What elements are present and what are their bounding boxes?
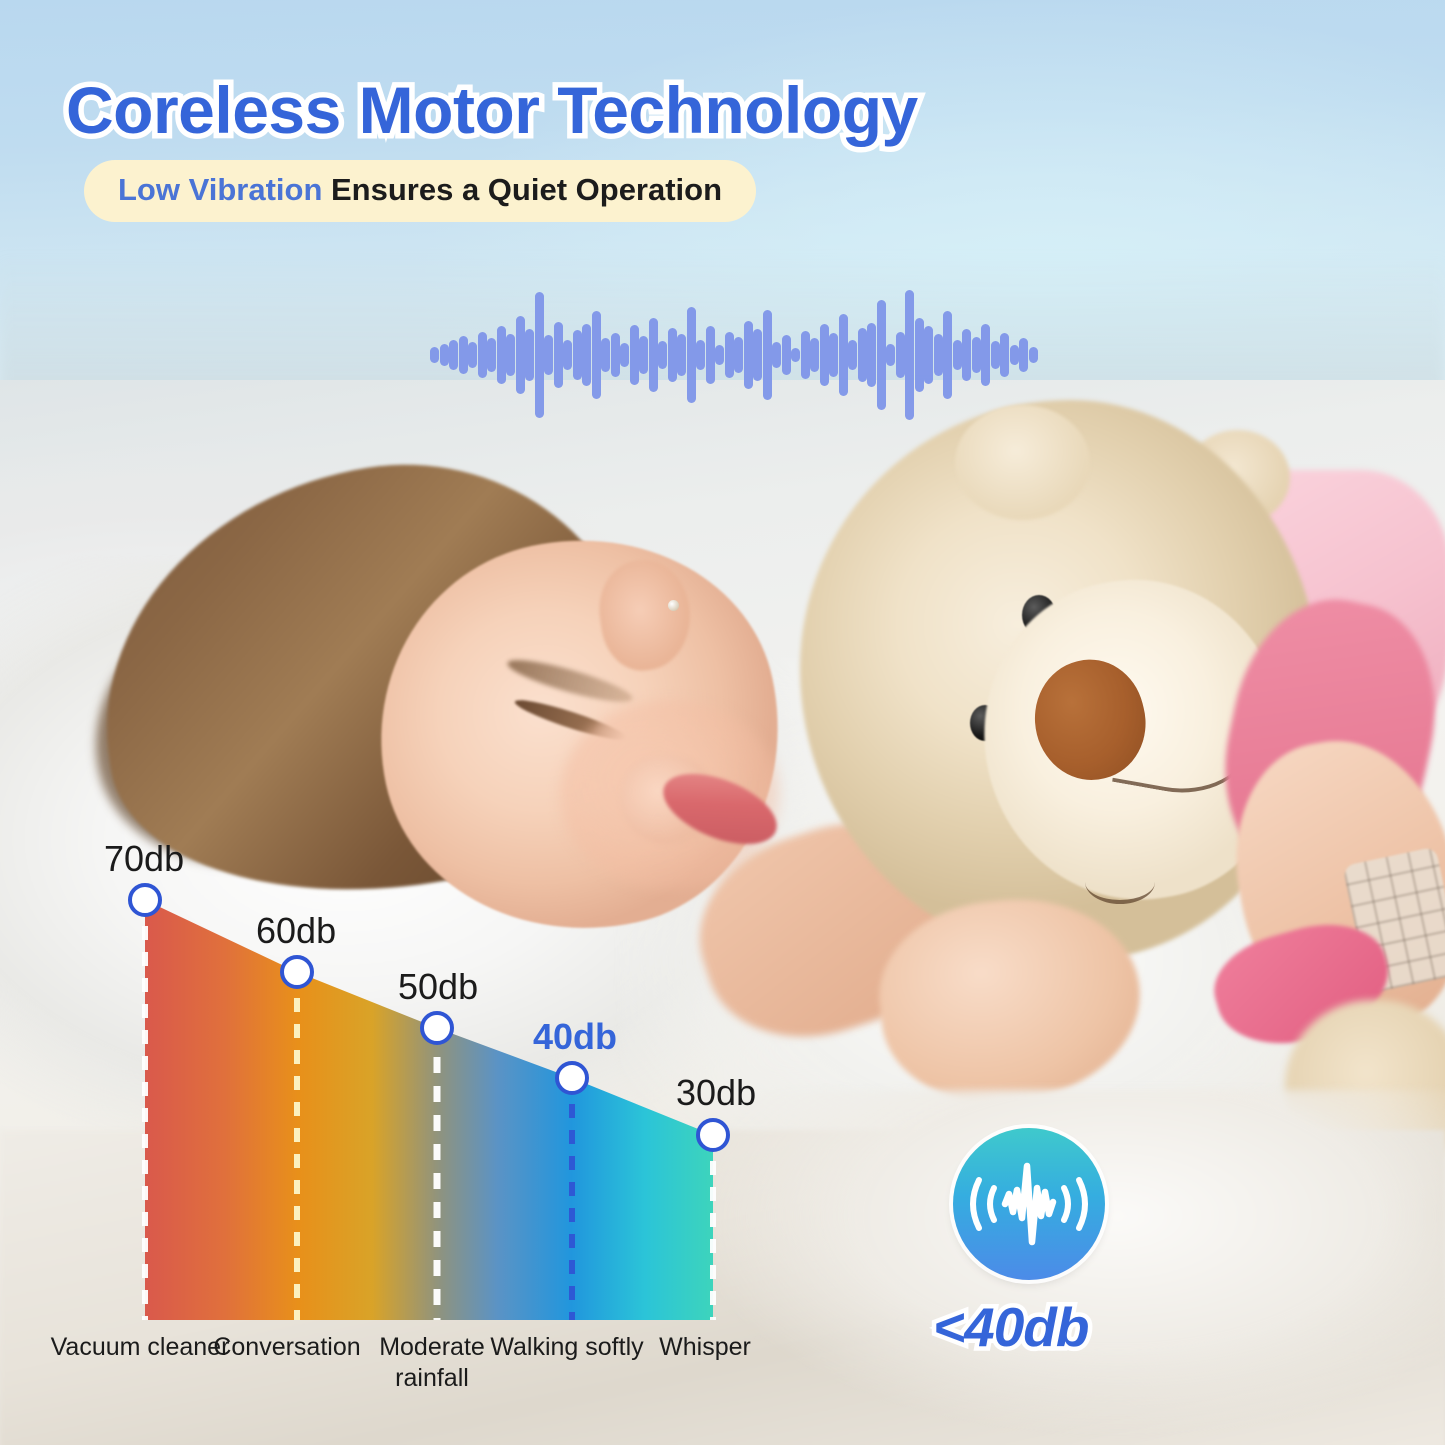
wave-bar — [459, 336, 468, 374]
chart-label-30db: 30db — [676, 1072, 756, 1114]
wave-bar — [544, 335, 553, 375]
chart-area — [145, 900, 713, 1320]
badge-label: <40db — [933, 1295, 1089, 1359]
chart-point-40db[interactable] — [557, 1063, 587, 1093]
wave-bar — [430, 347, 439, 363]
wave-bar — [915, 318, 924, 392]
wave-bar — [991, 341, 1000, 369]
wave-bar — [478, 332, 487, 378]
chart-point-50db[interactable] — [422, 1013, 452, 1043]
wave-bar — [677, 334, 686, 376]
chart-label-70db: 70db — [104, 838, 184, 880]
wave-bar — [791, 348, 800, 362]
wave-bar — [877, 300, 886, 410]
chart-point-70db[interactable] — [130, 885, 160, 915]
wave-bar — [516, 316, 525, 394]
wave-bar — [449, 340, 458, 370]
wave-bar — [905, 290, 914, 420]
wave-bar — [962, 329, 971, 381]
wave-bar — [706, 326, 715, 384]
wave-bar — [772, 342, 781, 368]
promo-image: Coreless Motor Technology Low Vibration … — [0, 0, 1445, 1445]
wave-bar — [1000, 333, 1009, 377]
wave-bar — [763, 310, 772, 400]
wave-bar — [801, 331, 810, 379]
page-title: Coreless Motor Technology — [66, 72, 918, 148]
wave-bar — [639, 336, 648, 374]
wave-bar — [1010, 345, 1019, 365]
wave-bar — [734, 337, 743, 373]
subtitle-pill: Low Vibration Ensures a Quiet Operation — [84, 160, 756, 222]
subtitle-highlight: Low Vibration — [118, 172, 322, 207]
wave-bar — [1019, 338, 1028, 372]
wave-bar — [981, 324, 990, 386]
wave-bar — [658, 341, 667, 369]
wave-bar — [611, 333, 620, 377]
wave-bar — [601, 338, 610, 372]
decibel-chart: 70db 60db 50db 40db 30db Vacuum cleaner … — [0, 860, 820, 1445]
wave-bar — [668, 328, 677, 382]
wave-bar — [554, 322, 563, 388]
wave-bar — [829, 333, 838, 377]
wave-bar — [535, 292, 544, 418]
wave-bar — [649, 318, 658, 392]
wave-bar — [810, 338, 819, 372]
wave-bar — [744, 321, 753, 389]
wave-bar — [924, 326, 933, 384]
chart-label-40db: 40db — [533, 1016, 617, 1058]
wave-bar — [820, 324, 829, 386]
wave-bar — [630, 325, 639, 385]
wave-bar — [848, 340, 857, 370]
chart-category-whisper: Whisper — [615, 1332, 795, 1363]
wave-bar — [972, 337, 981, 373]
wave-bar — [943, 311, 952, 399]
wave-bar — [867, 323, 876, 387]
wave-bar — [696, 340, 705, 370]
chart-label-60db: 60db — [256, 910, 336, 952]
earring — [668, 600, 679, 611]
wave-bar — [886, 344, 895, 366]
chart-point-60db[interactable] — [282, 957, 312, 987]
chart-point-30db[interactable] — [698, 1120, 728, 1150]
wave-bar — [497, 326, 506, 384]
quiet-sound-badge — [953, 1128, 1105, 1280]
subtitle-rest: Ensures a Quiet Operation — [322, 172, 722, 207]
wave-bar — [525, 329, 534, 381]
wave-bar — [563, 340, 572, 370]
wave-bar — [934, 334, 943, 376]
wave-bar — [858, 328, 867, 382]
wave-bar — [953, 340, 962, 370]
wave-bar — [592, 311, 601, 399]
wave-bar — [1029, 347, 1038, 363]
wave-bar — [687, 307, 696, 403]
wave-bar — [468, 342, 477, 368]
wave-bar — [487, 338, 496, 372]
quiet-sound-icon — [953, 1128, 1105, 1280]
wave-bar — [782, 335, 791, 375]
wave-bar — [725, 332, 734, 378]
wave-bar — [839, 314, 848, 396]
teddy-smile — [1085, 860, 1155, 904]
wave-bar — [620, 343, 629, 367]
wave-bar — [582, 324, 591, 386]
wave-bar — [506, 334, 515, 376]
wave-bar — [896, 332, 905, 378]
wave-bar — [715, 345, 724, 365]
wave-bar — [753, 329, 762, 381]
chart-label-50db: 50db — [398, 966, 478, 1008]
wave-bar — [440, 344, 449, 366]
sound-wave-icon — [430, 285, 1038, 425]
wave-bar — [573, 330, 582, 380]
